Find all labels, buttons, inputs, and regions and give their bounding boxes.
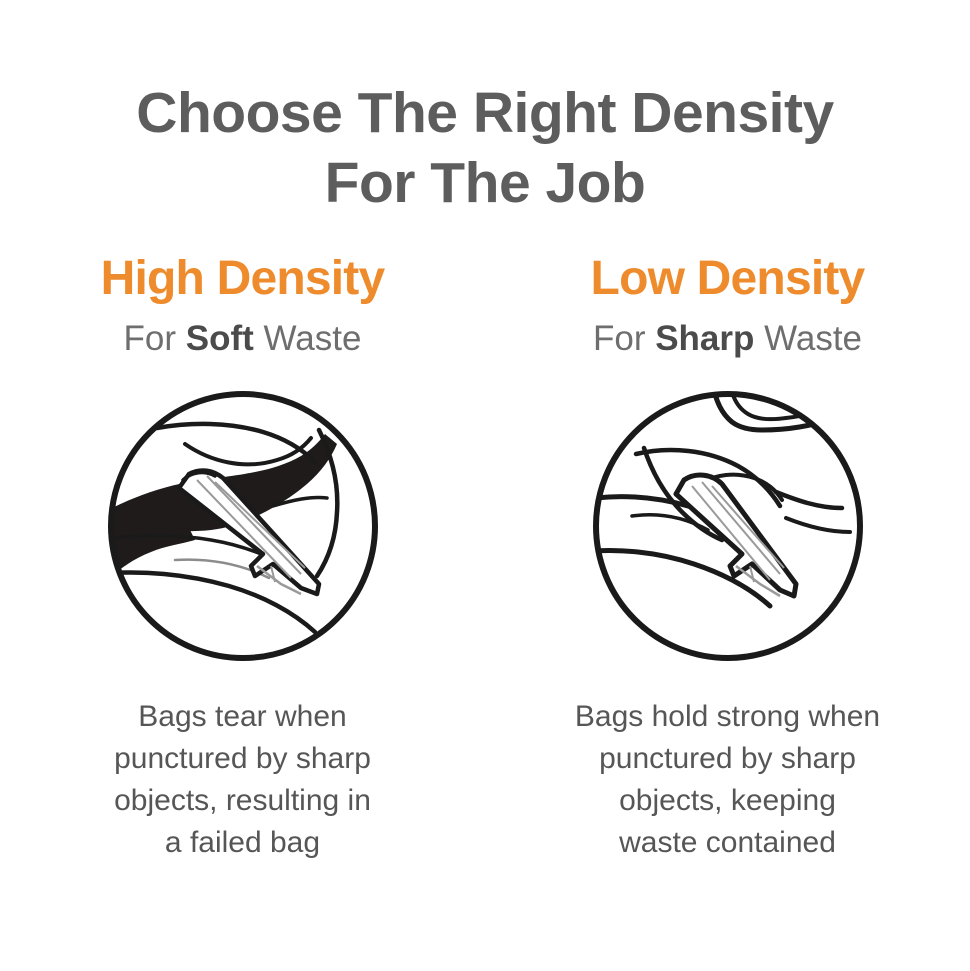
infographic-page: Choose The Right Density For The Job Hig… xyxy=(0,0,970,971)
page-title-line-2: For The Job xyxy=(0,148,970,218)
illustration-high-density xyxy=(105,388,381,664)
caption-line: objects, resulting in xyxy=(43,780,443,822)
subheading-suffix: Waste xyxy=(754,319,862,358)
caption-line: Bags hold strong when xyxy=(528,696,928,738)
column-low-density: Low Density For Sharp Waste xyxy=(485,250,970,864)
column-high-density: High Density For Soft Waste xyxy=(0,250,485,864)
subheading-prefix: For xyxy=(124,319,186,358)
column-subheading-low-density: For Sharp Waste xyxy=(593,318,862,360)
caption-line: Bags tear when xyxy=(43,696,443,738)
column-subheading-high-density: For Soft Waste xyxy=(124,318,362,360)
caption-line: objects, keeping xyxy=(528,780,928,822)
torn-bag-punctured-by-shard-icon xyxy=(105,388,381,664)
intact-bag-holding-shard-icon xyxy=(590,388,866,664)
caption-low-density: Bags hold strong when punctured by sharp… xyxy=(528,696,928,864)
caption-line: a failed bag xyxy=(43,822,443,864)
column-heading-low-density: Low Density xyxy=(591,250,865,308)
subheading-emphasis: Soft xyxy=(186,319,254,358)
caption-line: punctured by sharp xyxy=(528,738,928,780)
density-comparison: High Density For Soft Waste xyxy=(0,250,970,864)
page-title: Choose The Right Density For The Job xyxy=(0,78,970,218)
caption-line: punctured by sharp xyxy=(43,738,443,780)
illustration-low-density xyxy=(590,388,866,664)
subheading-emphasis: Sharp xyxy=(655,319,754,358)
page-title-line-1: Choose The Right Density xyxy=(0,78,970,148)
column-heading-high-density: High Density xyxy=(101,250,385,308)
subheading-suffix: Waste xyxy=(254,319,362,358)
caption-high-density: Bags tear when punctured by sharp object… xyxy=(43,696,443,864)
subheading-prefix: For xyxy=(593,319,655,358)
caption-line: waste contained xyxy=(528,822,928,864)
